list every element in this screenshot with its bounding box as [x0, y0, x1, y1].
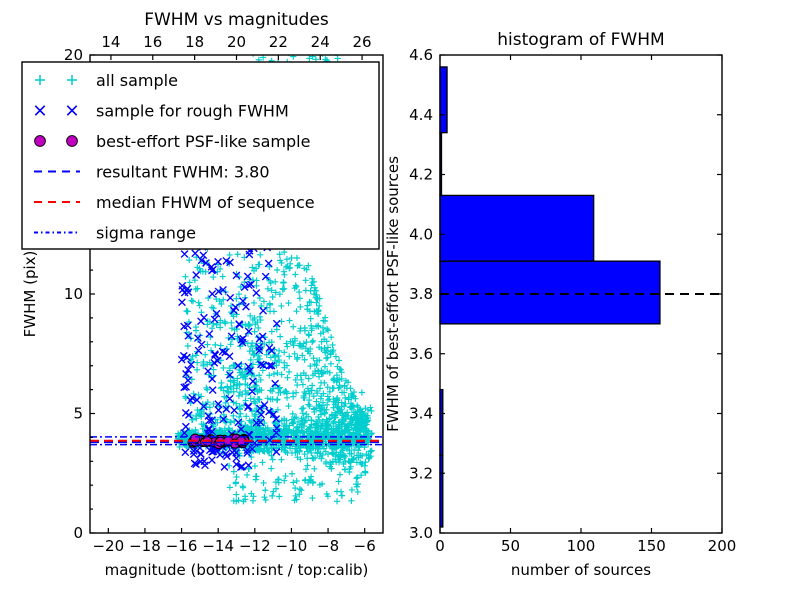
right-yaxis-label: FWHM of best-effort PSF-like sources: [384, 156, 402, 432]
right-panel-title: histogram of FWHM: [497, 30, 664, 50]
left-panel-title: FWHM vs magnitudes: [144, 10, 329, 30]
left-xaxis-label: magnitude (bottom:isnt / top:calib): [105, 561, 369, 579]
y-tick-label: 4.6: [409, 46, 433, 64]
histogram-bar: [440, 67, 447, 133]
y-tick-label: 3.2: [409, 464, 433, 482]
y-tick-label: 10: [64, 285, 83, 303]
legend-circle-icon: [67, 136, 78, 147]
x-tick-label: 200: [708, 537, 737, 555]
y-tick-label: 3.6: [409, 345, 433, 363]
histogram-bar: [440, 261, 660, 324]
right-xaxis-label: number of sources: [511, 561, 651, 579]
x-tick-label: 150: [637, 537, 666, 555]
x-tick-label: 100: [567, 537, 596, 555]
x-tick-label: −12: [239, 537, 271, 555]
x-tick-label: 50: [501, 537, 520, 555]
legend-item-label: sample for rough FWHM: [96, 102, 289, 121]
x-top-tick-label: 20: [227, 33, 246, 51]
y-tick-label: 3.4: [409, 405, 433, 423]
x-tick-label: 0: [435, 537, 445, 555]
x-top-tick-label: 18: [185, 33, 204, 51]
legend-item-label: best-effort PSF-like sample: [96, 132, 310, 151]
histogram-bar: [440, 195, 594, 261]
left-yaxis-label: FWHM (pix): [21, 251, 39, 338]
plot-svg: −20−18−16−14−12−10−8−6magnitude (bottom:…: [0, 0, 800, 600]
x-top-tick-label: 16: [143, 33, 162, 51]
legend-box: [22, 62, 379, 249]
y-tick-label: 4.4: [409, 106, 433, 124]
figure-canvas: −20−18−16−14−12−10−8−6magnitude (bottom:…: [0, 0, 800, 600]
legend-item-label: sigma range: [96, 224, 196, 243]
x-tick-label: −10: [276, 537, 308, 555]
y-tick-label: 4.0: [409, 225, 433, 243]
y-tick-label: 4.2: [409, 166, 433, 184]
x-tick-label: −6: [354, 537, 376, 555]
right-panel: 050100150200number of sources3.03.23.43.…: [384, 30, 736, 579]
x-top-tick-label: 22: [269, 33, 288, 51]
legend-circle-icon: [35, 136, 46, 147]
legend-item-label: resultant FWHM: 3.80: [96, 163, 270, 182]
y-tick-label: 3.0: [409, 524, 433, 542]
x-tick-label: −8: [317, 537, 339, 555]
legend-item-label: all sample: [96, 71, 178, 90]
x-tick-label: −14: [202, 537, 234, 555]
x-tick-label: −18: [129, 537, 161, 555]
x-top-tick-label: 26: [353, 33, 372, 51]
y-tick-label: 0: [73, 524, 83, 542]
x-top-tick-label: 14: [101, 33, 120, 51]
x-top-tick-label: 24: [311, 33, 330, 51]
legend: all samplesample for rough FWHMbest-effo…: [22, 62, 379, 249]
x-tick-label: −16: [166, 537, 198, 555]
y-tick-label: 3.8: [409, 285, 433, 303]
y-tick-label: 5: [73, 405, 83, 423]
legend-item-label: median FHWM of sequence: [96, 193, 315, 212]
x-tick-label: −20: [92, 537, 124, 555]
